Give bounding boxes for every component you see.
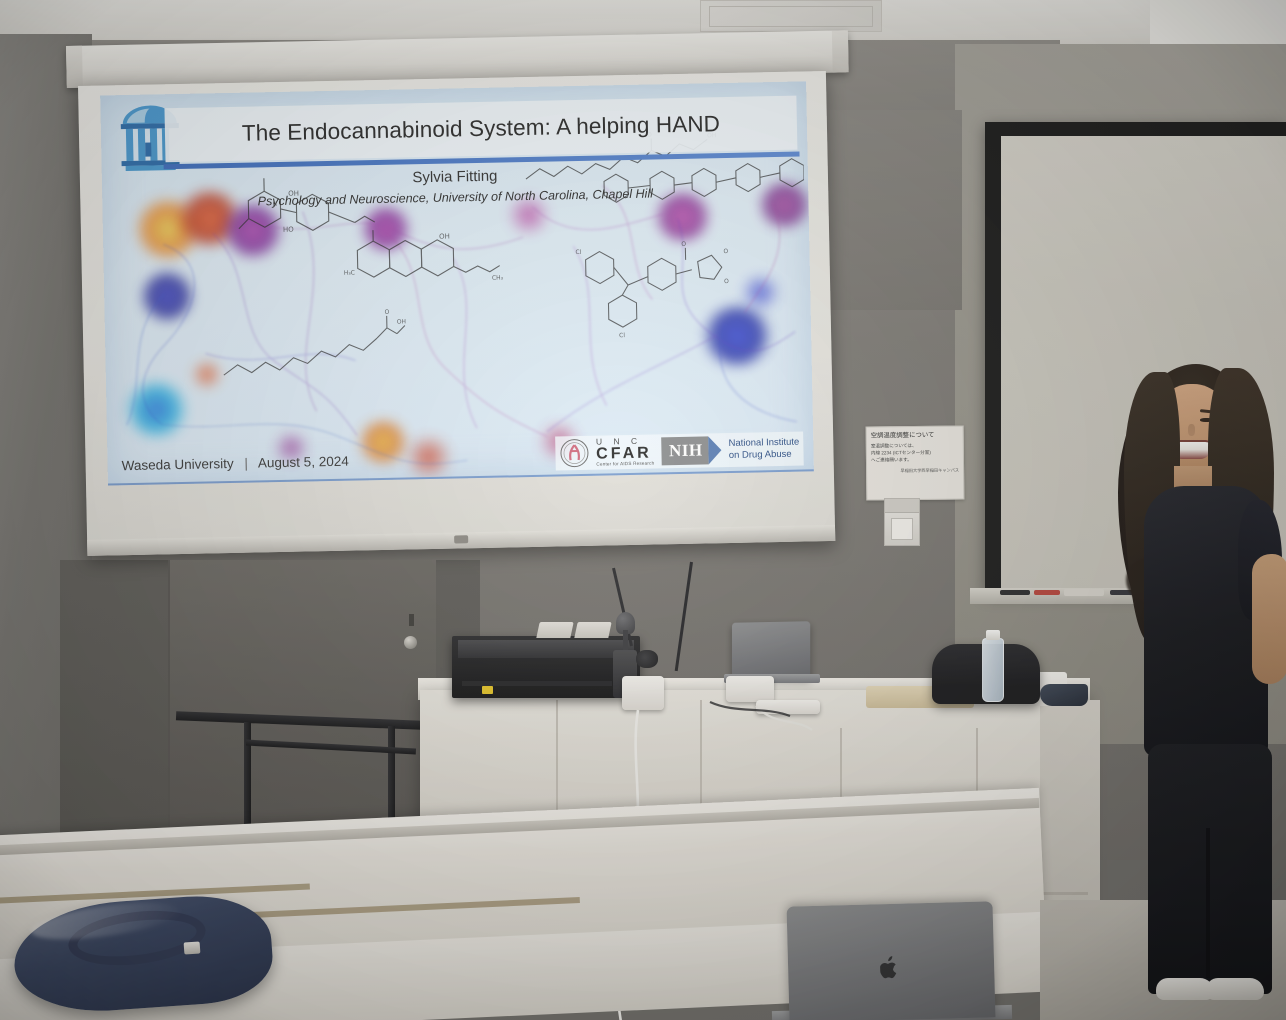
av-indicator-led xyxy=(482,686,493,694)
apple-logo-icon xyxy=(880,956,901,981)
presenter-shoe xyxy=(1206,978,1264,1000)
projection-screen: OH HO H OH H₃C CH₃ xyxy=(78,71,835,556)
presenter-trouser-seam xyxy=(1206,828,1210,978)
svg-text:OH: OH xyxy=(439,233,450,241)
nida-line-2: on Drug Abuse xyxy=(729,449,800,462)
nih-text: NIH xyxy=(661,436,709,465)
screen-housing-cap-right xyxy=(832,30,849,72)
chem-structure-2ag: O OH xyxy=(216,301,408,385)
svg-text:HO: HO xyxy=(283,226,294,234)
dark-pouch xyxy=(1040,684,1088,706)
wall-panel-recess xyxy=(820,110,962,310)
ceiling-vent xyxy=(700,0,882,32)
cfar-logo-text: U N C CFAR Center for AIDS Research xyxy=(596,437,654,467)
cfar-tagline: Center for AIDS Research xyxy=(596,461,654,467)
whiteboard-marker xyxy=(1034,590,1060,595)
presenter xyxy=(1100,358,1286,1020)
ceiling-right-panel xyxy=(1150,0,1286,44)
backpack-buckle xyxy=(184,941,201,954)
svg-text:Cl: Cl xyxy=(619,332,625,339)
chem-structure-carbamate: Cl Cl O O O xyxy=(571,231,743,344)
light-switch[interactable] xyxy=(891,518,913,540)
svg-text:Cl: Cl xyxy=(575,249,581,256)
sponsor-logo-row: U N C CFAR Center for AIDS Research NIH … xyxy=(555,432,804,471)
footer-venue: Waseda University xyxy=(121,456,233,473)
presentation-slide: OH HO H OH H₃C CH₃ xyxy=(100,81,814,485)
whiteboard-marker xyxy=(1000,590,1030,595)
svg-text:H₃C: H₃C xyxy=(344,269,355,276)
footer-date: August 5, 2024 xyxy=(258,454,349,471)
webcam xyxy=(636,650,658,668)
whiteboard-eraser xyxy=(1064,589,1104,596)
lecture-hall-photo: 空調温度調整について 室温調整については、 内線 2234 (ICTセンター分室… xyxy=(0,0,1286,1020)
nih-arrow-icon xyxy=(708,436,722,464)
notice-heading: 空調温度調整について xyxy=(871,432,959,440)
water-bottle[interactable] xyxy=(982,638,1004,702)
paper-sheet xyxy=(574,622,611,638)
switch-label xyxy=(885,499,919,513)
laptop-on-podium[interactable] xyxy=(732,621,810,679)
door-knob[interactable] xyxy=(404,636,417,649)
slide-title: The Endocannabinoid System: A helping HA… xyxy=(242,111,721,147)
podium-side-panel xyxy=(1040,700,1100,910)
notice-signature: 早稲田大学西早稲田キャンパス xyxy=(871,468,959,475)
bottle-cap xyxy=(986,630,1000,640)
svg-text:O: O xyxy=(723,248,728,255)
av-deck-panel xyxy=(458,640,634,658)
nida-logo-text: National Institute on Drug Abuse xyxy=(728,437,799,462)
footer-separator: | xyxy=(244,456,248,471)
presenter-trousers xyxy=(1148,744,1272,994)
air-conditioning-notice: 空調温度調整について 室温調整については、 内線 2234 (ICTセンター分室… xyxy=(866,425,965,500)
svg-text:O: O xyxy=(681,241,686,248)
power-adapter xyxy=(726,676,774,702)
presenter-arm xyxy=(1252,554,1286,684)
nih-logo: NIH xyxy=(661,436,722,465)
svg-text:O: O xyxy=(385,309,390,316)
svg-text:OH: OH xyxy=(397,318,406,325)
wall-switch-plate[interactable] xyxy=(884,498,920,546)
macbook-pro-laptop[interactable] xyxy=(787,901,996,1020)
av-control-deck[interactable] xyxy=(452,636,640,698)
svg-text:CH₃: CH₃ xyxy=(492,274,504,281)
door-lock-plate xyxy=(409,614,414,626)
presenter-nose xyxy=(1188,424,1195,436)
aids-ribbon-icon xyxy=(559,438,590,469)
svg-text:O: O xyxy=(724,278,729,285)
notice-line-3: へご連絡願います。 xyxy=(871,456,959,464)
screen-housing-cap-left xyxy=(66,46,83,88)
paper-sheet xyxy=(536,622,573,638)
